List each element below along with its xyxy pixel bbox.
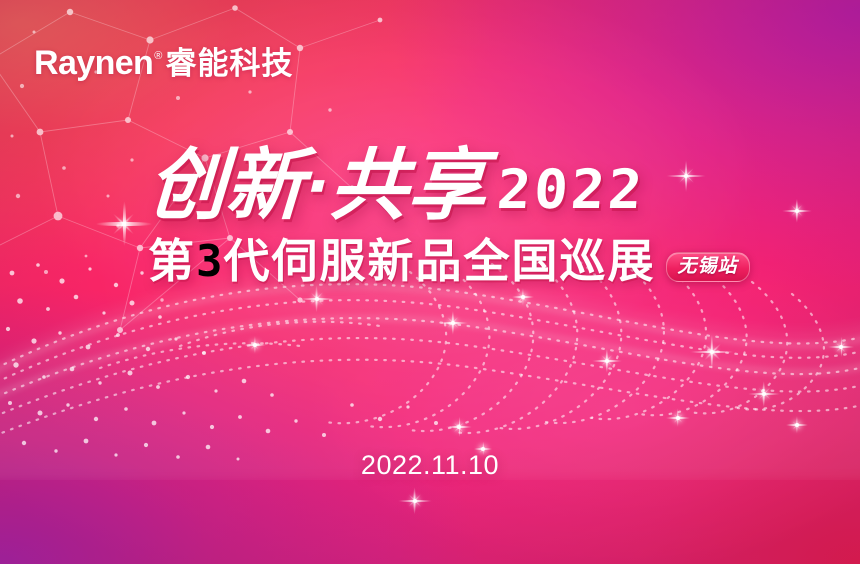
headline-line-1: 创新·共享 2022: [148, 142, 828, 228]
event-date: 2022.11.10: [0, 450, 860, 481]
subtitle-rest: 代伺服新品全国巡展: [224, 234, 656, 288]
city-stop-badge: 无锡站: [666, 252, 750, 282]
headline-line-2: 第 3 代伺服新品全国巡展 无锡站: [148, 234, 828, 288]
brand-name-en: Raynen: [34, 46, 153, 80]
event-title: 创新·共享: [146, 142, 488, 228]
registered-mark-icon: ®: [154, 51, 162, 62]
event-year: 2022: [495, 160, 647, 220]
subtitle-prefix: 第: [148, 234, 196, 288]
brand-logo: Raynen ® 睿能科技: [34, 46, 293, 80]
headline-block: 创新·共享 2022 第 3 代伺服新品全国巡展 无锡站: [148, 142, 828, 288]
subtitle-generation: 3: [196, 236, 224, 287]
brand-name-cn: 睿能科技: [165, 48, 293, 79]
event-poster: Raynen ® 睿能科技 创新·共享 2022 第 3 代伺服新品全国巡展 无…: [0, 0, 860, 564]
